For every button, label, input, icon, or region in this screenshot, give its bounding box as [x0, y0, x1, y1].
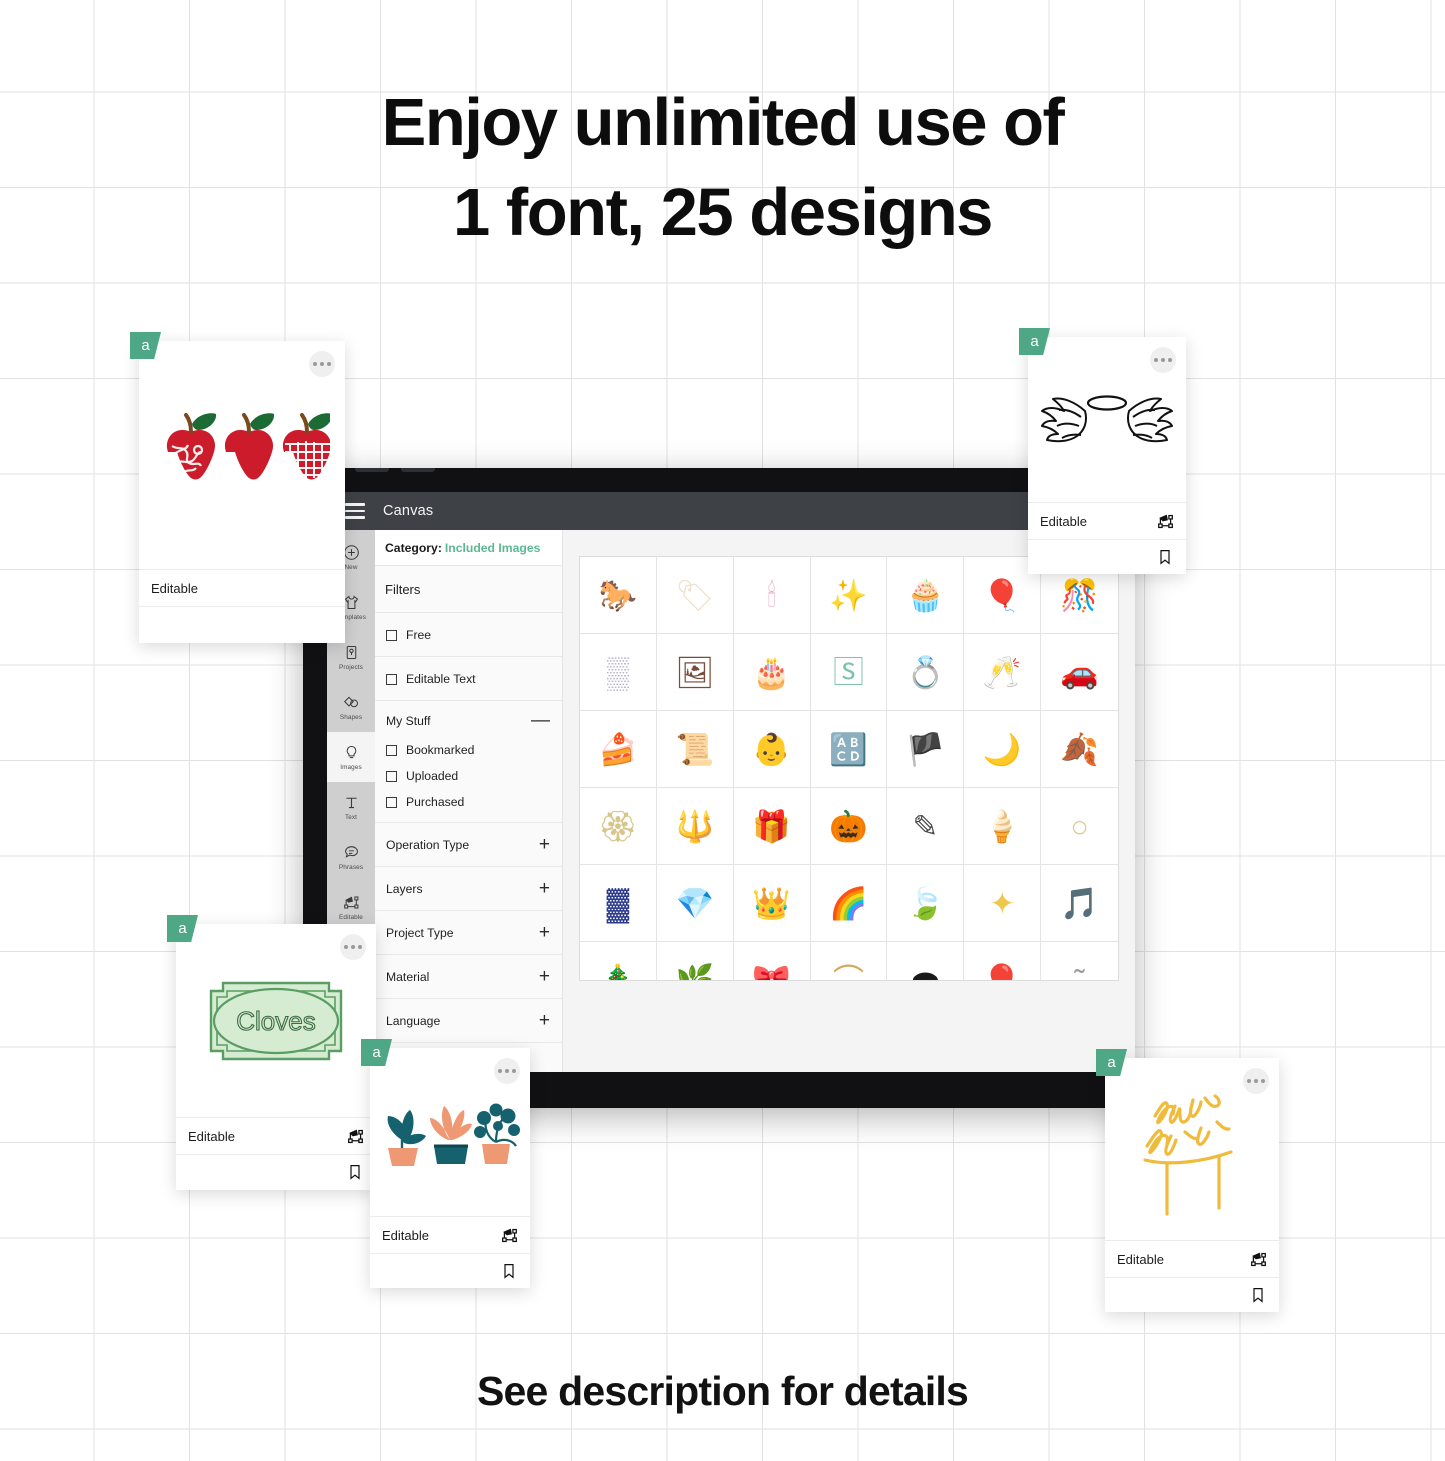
design-card-cloves[interactable]: a Cloves Editable — [176, 924, 376, 1190]
sidebar-label-images: Images — [340, 764, 362, 771]
footer-note: See description for details — [0, 1368, 1445, 1415]
cupcakes-icon: 🧁 — [906, 580, 945, 611]
image-cell-surprise-tiles[interactable]: 🅂 — [811, 634, 888, 711]
image-results-grid: 🐎🏷🕯✨🧁🎈🎊▒🖼🎂🅂💍🥂🚗🍰📜👶🔠🏴🌙🍂🏵🔱🎁🎃✎🍦○▓💎👑🌈🍃✦🎵🎄🌿🎀⌒⬬… — [579, 556, 1119, 981]
pink-bow-icon: 🎀 — [752, 965, 791, 982]
gold-banner-star-icon: 🔱 — [675, 811, 714, 842]
gold-sparkles-icon: ✦ — [989, 888, 1015, 919]
birthday-cake-sparkler-icon: 🎂 — [752, 657, 791, 688]
image-cell-music-notes[interactable]: 🎵 — [1041, 865, 1118, 942]
three-dots-icon[interactable] — [1150, 347, 1176, 373]
filter-checkbox-editable-text[interactable]: Editable Text — [375, 657, 562, 701]
filter-group-my-stuff: My Stuff — Bookmarked Uploaded — [375, 701, 562, 823]
sidebar-label-projects: Projects — [339, 664, 363, 671]
category-header: Category:Included Images — [375, 530, 562, 566]
card-status-row: Editable — [139, 569, 345, 606]
image-cell-pumpkin[interactable]: 🎃 — [811, 788, 888, 865]
headline-line-1: Enjoy unlimited use of — [382, 85, 1064, 160]
rainbow-icon: 🌈 — [829, 888, 868, 919]
node-edit-icon — [343, 894, 360, 911]
design-card-plants[interactable]: a — [370, 1048, 530, 1288]
filter-label-bookmarked: Bookmarked — [406, 743, 474, 757]
image-cell-happy-birthday-topper[interactable]: ✨ — [811, 557, 888, 634]
bookmark-icon[interactable] — [1157, 549, 1174, 566]
headline-line-2: 1 font, 25 designs — [0, 168, 1445, 258]
gift-tag-card-icon: 🏷 — [675, 580, 714, 611]
sidebar-item-phrases[interactable]: Phrases — [327, 832, 375, 882]
image-cell-gold-sparkles[interactable]: ✦ — [964, 865, 1041, 942]
filters-panel: Category:Included Images Filters Free Ed… — [375, 530, 563, 1072]
three-dots-icon[interactable] — [340, 934, 366, 960]
sidebar-item-text[interactable]: Text — [327, 782, 375, 832]
filter-accordion-language[interactable]: Language + — [375, 999, 562, 1043]
filter-checkbox-purchased[interactable]: Purchased — [375, 789, 562, 815]
sidebar-item-shapes[interactable]: Shapes — [327, 682, 375, 732]
sidebar-label-shapes: Shapes — [340, 714, 362, 721]
filter-accordion-layers[interactable]: Layers + — [375, 867, 562, 911]
speech-bubble-icon — [343, 844, 360, 861]
congrats-pennant-icon: 🏴 — [906, 734, 945, 765]
image-cell-giraffe-moon[interactable]: 🌙 — [964, 711, 1041, 788]
image-cell-birthday-cake-sparkler[interactable]: 🎂 — [734, 634, 811, 711]
baby-blocks-icon: 🔠 — [829, 734, 868, 765]
crown-icon: 👑 — [752, 888, 791, 919]
folder-icon — [343, 644, 360, 661]
volume-down-button[interactable] — [401, 468, 435, 472]
filter-label-free: Free — [406, 628, 431, 642]
app-header: Canvas — [327, 492, 1135, 530]
card-action-row — [370, 1253, 530, 1288]
image-cell-leaf-silhouettes[interactable]: 🍃 — [887, 865, 964, 942]
image-cell-interlocked-rings[interactable]: 💎 — [657, 865, 734, 942]
hey-marilyn-script-icon: ✎ — [912, 811, 938, 842]
ornate-frame-icon: 🖼 — [675, 657, 714, 688]
status-badge: Editable — [382, 1228, 429, 1243]
cloves-label-text: Cloves — [236, 1006, 315, 1036]
birthday-candles-icon: 🕯 — [767, 580, 776, 611]
filter-accordion-project-type[interactable]: Project Type + — [375, 911, 562, 955]
sidebar-label-new: New — [344, 564, 357, 571]
plus-icon[interactable]: + — [539, 883, 550, 895]
design-card-apples[interactable]: a — [139, 341, 345, 643]
image-cell-dark-oval[interactable]: ⬬ — [887, 942, 964, 981]
poster-canvas: Enjoy unlimited use of 1 font, 25 design… — [0, 0, 1445, 1461]
image-cell-ice-cream-cones[interactable]: 🍦 — [964, 788, 1041, 865]
tshirt-icon — [343, 594, 360, 611]
accordion-label-language: Language — [386, 1014, 440, 1028]
image-cell-ornate-frame[interactable]: 🖼 — [657, 634, 734, 711]
happy-birthday-topper-icon: ✨ — [829, 580, 868, 611]
my-stuff-header[interactable]: My Stuff — — [375, 701, 562, 737]
app-title: Canvas — [383, 503, 433, 519]
category-value: Included Images — [445, 541, 541, 555]
image-cell-party-balloons[interactable]: 🎈 — [964, 942, 1041, 981]
image-cell-baby-blocks[interactable]: 🔠 — [811, 711, 888, 788]
lace-panel-icon: ▒ — [607, 657, 629, 688]
bookmark-icon[interactable] — [501, 1263, 518, 1280]
status-badge: Editable — [1117, 1252, 1164, 1267]
tablet-device: Canvas New Templates — [303, 468, 1135, 1108]
confetti-banner-icon: 🎊 — [1060, 580, 1099, 611]
sidebar-label-text: Text — [345, 814, 357, 821]
image-cell-congrats-pennant[interactable]: 🏴 — [887, 711, 964, 788]
filter-label-uploaded: Uploaded — [406, 769, 458, 783]
champagne-flutes-icon: 🥂 — [983, 657, 1022, 688]
party-balloons-icon: 🎈 — [983, 965, 1022, 982]
accordion-label-material: Material — [386, 970, 429, 984]
image-cell-gold-banner-star[interactable]: 🔱 — [657, 788, 734, 865]
image-cell-cupcakes[interactable]: 🧁 — [887, 557, 964, 634]
accordion-label-operation-type: Operation Type — [386, 838, 469, 852]
filter-checkbox-bookmarked[interactable]: Bookmarked — [375, 737, 562, 763]
checkbox-icon[interactable] — [386, 745, 397, 756]
image-cell-birthday-candles[interactable]: 🕯 — [734, 557, 811, 634]
tablet-screen: Canvas New Templates — [327, 492, 1135, 1072]
autumn-leaves-icon: 🍂 — [1060, 734, 1099, 765]
my-stuff-label: My Stuff — [386, 714, 430, 728]
category-label: Category: — [385, 541, 442, 555]
three-dots-icon[interactable] — [494, 1058, 520, 1084]
card-action-row — [1028, 539, 1186, 574]
gold-arch-icon: ⌒ — [833, 965, 864, 982]
image-cell-oval-gold-tag[interactable]: ○ — [1041, 788, 1118, 865]
image-cell-champagne-flutes[interactable]: 🥂 — [964, 634, 1041, 711]
bookmark-icon[interactable] — [347, 1164, 364, 1181]
design-card-angel-wings[interactable]: a Editable — [1028, 337, 1186, 574]
sidebar-label-phrases: Phrases — [339, 864, 363, 871]
image-cell-wedding-car[interactable]: 🚗 — [1041, 634, 1118, 711]
page-title: Enjoy unlimited use of 1 font, 25 design… — [0, 78, 1445, 259]
balloon-bouquet-icon: 🎈 — [983, 580, 1022, 611]
card-action-row — [176, 1154, 376, 1189]
filter-accordion-material[interactable]: Material + — [375, 955, 562, 999]
checkbox-icon[interactable] — [386, 630, 397, 641]
image-cell-pink-bow[interactable]: 🎀 — [734, 942, 811, 981]
node-edit-icon[interactable] — [347, 1128, 364, 1145]
interlocked-rings-icon: 💎 — [675, 888, 714, 919]
gift-boxes-icon: 🎁 — [752, 811, 791, 842]
image-cell-gift-boxes[interactable]: 🎁 — [734, 788, 811, 865]
card-status-row: Editable — [176, 1117, 376, 1154]
image-cell-diamond-ring[interactable]: 💍 — [887, 634, 964, 711]
image-cell-hey-marilyn-script[interactable]: ✎ — [887, 788, 964, 865]
node-edit-icon[interactable] — [1250, 1251, 1267, 1268]
status-badge: Editable — [151, 581, 198, 596]
image-cell-rainbow[interactable]: 🌈 — [811, 865, 888, 942]
plus-icon[interactable]: + — [539, 927, 550, 939]
node-edit-icon[interactable] — [501, 1227, 518, 1244]
card-artwork-apples — [139, 341, 345, 569]
three-dots-icon[interactable] — [309, 351, 335, 377]
image-cell-baby-pram[interactable]: 👶 — [734, 711, 811, 788]
plus-icon[interactable]: + — [539, 971, 550, 983]
image-cell-crown[interactable]: 👑 — [734, 865, 811, 942]
music-notes-icon: 🎵 — [1060, 888, 1099, 919]
accordion-label-project-type: Project Type — [386, 926, 454, 940]
filter-checkbox-uploaded[interactable]: Uploaded — [375, 763, 562, 789]
status-badge: Editable — [188, 1129, 235, 1144]
gnome-icon: 🎄 — [599, 965, 638, 982]
node-edit-icon[interactable] — [1157, 513, 1174, 530]
checkbox-icon[interactable] — [386, 674, 397, 685]
checkbox-icon[interactable] — [386, 771, 397, 782]
card-status-row: Editable — [1105, 1240, 1279, 1277]
image-cell-faint-sketch[interactable]: ˜ — [1041, 942, 1118, 981]
accordion-label-layers: Layers — [386, 882, 423, 896]
rocking-horse-icon: 🐎 — [599, 580, 638, 611]
checkbox-icon[interactable] — [386, 797, 397, 808]
image-cell-rocking-horse[interactable]: 🐎 — [580, 557, 657, 634]
status-badge: Editable — [1040, 514, 1087, 529]
minus-icon[interactable]: — — [531, 715, 550, 727]
text-icon — [343, 794, 360, 811]
oval-gold-tag-icon: ○ — [1070, 811, 1089, 842]
baby-pram-icon: 👶 — [752, 734, 791, 765]
bookmark-icon[interactable] — [1250, 1287, 1267, 1304]
image-cell-autumn-leaves[interactable]: 🍂 — [1041, 711, 1118, 788]
image-results-area: 🐎🏷🕯✨🧁🎈🎊▒🖼🎂🅂💍🥂🚗🍰📜👶🔠🏴🌙🍂🏵🔱🎁🎃✎🍦○▓💎👑🌈🍃✦🎵🎄🌿🎀⌒⬬… — [563, 530, 1135, 1072]
three-dots-icon[interactable] — [1243, 1068, 1269, 1094]
wedding-car-icon: 🚗 — [1060, 657, 1099, 688]
faint-sketch-icon: ˜ — [1074, 965, 1084, 982]
blue-damask-tile-icon: ▓ — [607, 888, 630, 919]
dark-foliage-icon: 🌿 — [675, 965, 714, 982]
card-status-row: Editable — [370, 1216, 530, 1253]
sidebar-label-editable: Editable — [339, 914, 363, 921]
pumpkin-icon: 🎃 — [829, 811, 868, 842]
sidebar-item-images[interactable]: Images — [327, 732, 375, 782]
image-cell-gift-tag-card[interactable]: 🏷 — [657, 557, 734, 634]
scroll-plaque-icon: 📜 — [675, 734, 714, 765]
image-cell-gold-arch[interactable]: ⌒ — [811, 942, 888, 981]
tiered-cake-icon: 🍰 — [599, 734, 638, 765]
shapes-icon — [343, 694, 360, 711]
plus-icon[interactable]: + — [539, 839, 550, 851]
image-cell-scroll-plaque[interactable]: 📜 — [657, 711, 734, 788]
thank-you-seal-icon: 🏵 — [598, 811, 637, 842]
design-card-happy-birthday[interactable]: a Editable — [1105, 1058, 1279, 1312]
image-cell-thank-you-seal[interactable]: 🏵 — [580, 788, 657, 865]
giraffe-moon-icon: 🌙 — [983, 734, 1022, 765]
surprise-tiles-icon: 🅂 — [833, 657, 864, 688]
filter-accordion-operation-type[interactable]: Operation Type + — [375, 823, 562, 867]
lightbulb-icon — [343, 744, 360, 761]
filters-title: Filters — [375, 566, 562, 613]
plus-icon[interactable]: + — [539, 1015, 550, 1027]
card-status-row: Editable — [1028, 502, 1186, 539]
image-cell-gnome[interactable]: 🎄 — [580, 942, 657, 981]
diamond-ring-icon: 💍 — [906, 657, 945, 688]
image-cell-blue-damask-tile[interactable]: ▓ — [580, 865, 657, 942]
filter-checkbox-free[interactable]: Free — [375, 613, 562, 657]
image-cell-dark-foliage[interactable]: 🌿 — [657, 942, 734, 981]
filter-label-purchased: Purchased — [406, 795, 464, 809]
leaf-silhouettes-icon: 🍃 — [906, 888, 945, 919]
filter-label-editable-text: Editable Text — [406, 672, 476, 686]
dark-oval-icon: ⬬ — [912, 965, 938, 982]
image-cell-lace-panel[interactable]: ▒ — [580, 634, 657, 711]
hamburger-icon[interactable] — [345, 503, 365, 519]
volume-up-button[interactable] — [355, 468, 389, 472]
ice-cream-cones-icon: 🍦 — [983, 811, 1022, 842]
card-action-row — [1105, 1277, 1279, 1312]
plus-circle-icon — [343, 544, 360, 561]
card-action-row — [139, 606, 345, 641]
image-cell-tiered-cake[interactable]: 🍰 — [580, 711, 657, 788]
